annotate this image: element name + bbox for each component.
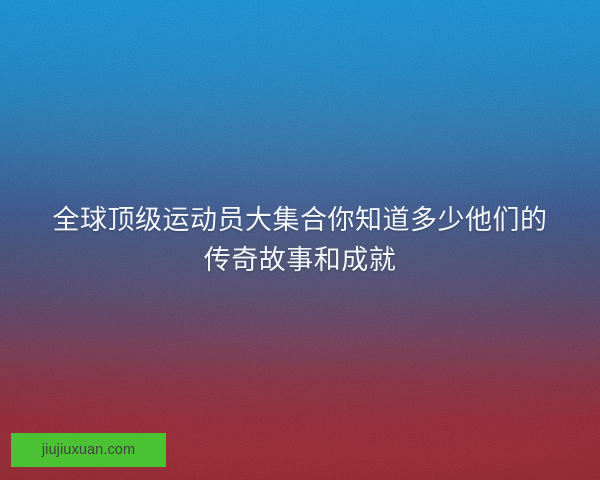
page-title: 全球顶级运动员大集合你知道多少他们的 传奇故事和成就 (0, 200, 600, 280)
site-watermark-badge[interactable]: jiujiuxuan.com (11, 433, 166, 467)
poster-canvas: 全球顶级运动员大集合你知道多少他们的 传奇故事和成就 jiujiuxuan.co… (0, 0, 600, 480)
site-watermark-label: jiujiuxuan.com (42, 443, 135, 458)
